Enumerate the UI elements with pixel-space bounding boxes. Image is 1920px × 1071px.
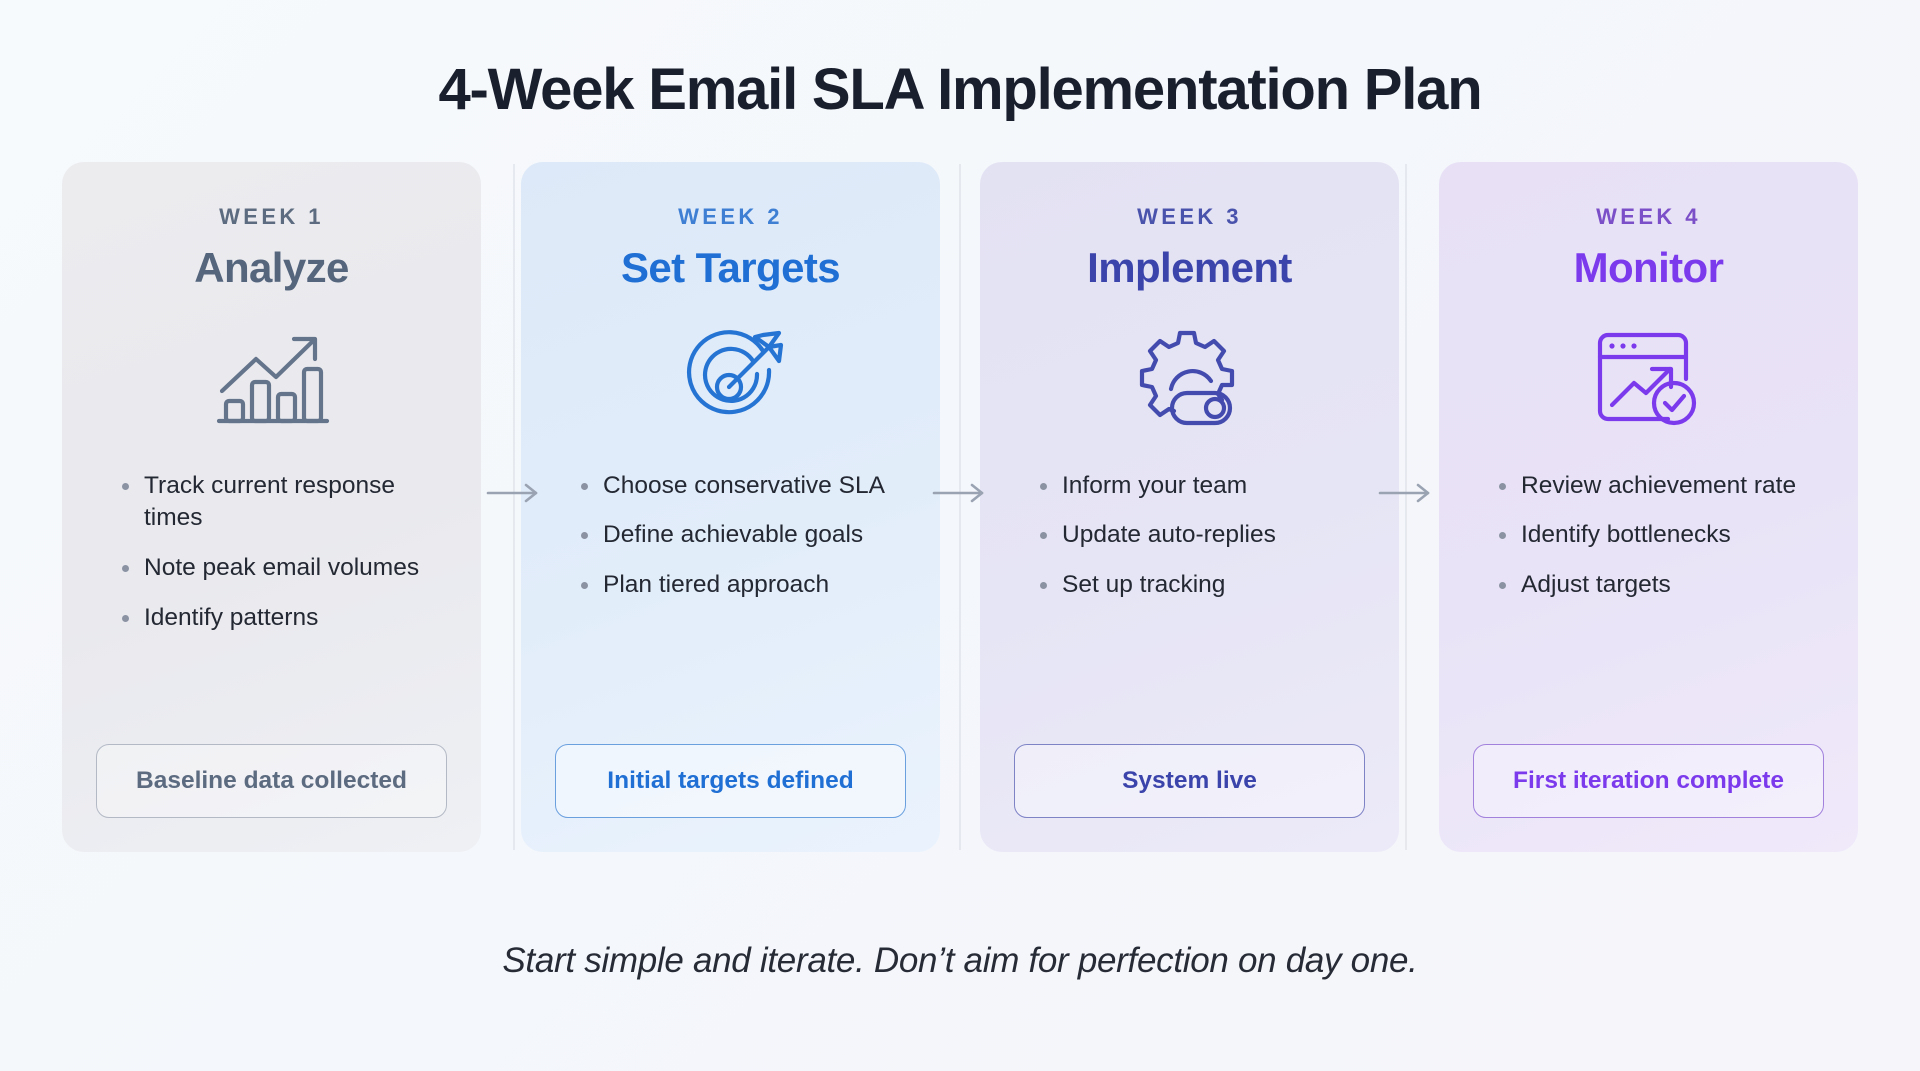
list-item: Plan tiered approach: [577, 569, 906, 602]
week-label-3: WEEK 3: [1137, 204, 1242, 230]
gear-toggle-icon: [1137, 324, 1243, 434]
list-item: Define achievable goals: [577, 519, 906, 552]
list-item: Update auto-replies: [1036, 519, 1365, 552]
title-section: 4-Week Email SLA Implementation Plan: [0, 0, 1920, 122]
bar-chart-growth-icon: [214, 324, 330, 434]
divider-line: [514, 164, 515, 850]
list-item: Set up tracking: [1036, 569, 1365, 602]
week-card-2[interactable]: WEEK 2 Set Targets Choose conservative S…: [521, 162, 940, 852]
footer-section: Start simple and iterate. Don’t aim for …: [0, 852, 1920, 1071]
list-item: Inform your team: [1036, 470, 1365, 503]
week-card-1[interactable]: WEEK 1 Analyze Track current response ti…: [62, 162, 481, 852]
bullet-list-1: Track current response times Note peak e…: [96, 470, 447, 651]
list-item: Track current response times: [118, 470, 447, 535]
divider-line: [1406, 164, 1407, 850]
list-item: Adjust targets: [1495, 569, 1824, 602]
bullet-list-4: Review achievement rate Identify bottlen…: [1473, 470, 1824, 619]
list-item: Note peak email volumes: [118, 552, 447, 585]
list-item: Identify patterns: [118, 602, 447, 635]
week-label-1: WEEK 1: [219, 204, 324, 230]
status-badge-2[interactable]: Initial targets defined: [555, 744, 906, 817]
phase-title-2: Set Targets: [621, 246, 840, 290]
phase-title-1: Analyze: [194, 246, 349, 290]
infographic-page: 4-Week Email SLA Implementation Plan WEE…: [0, 0, 1920, 1071]
bullet-list-2: Choose conservative SLA Define achievabl…: [555, 470, 906, 619]
week-label-4: WEEK 4: [1596, 204, 1701, 230]
connector-2-3: [940, 162, 980, 852]
target-dart-icon: [677, 324, 785, 434]
page-title: 4-Week Email SLA Implementation Plan: [0, 58, 1920, 122]
status-badge-4[interactable]: First iteration complete: [1473, 744, 1824, 817]
divider-line: [960, 164, 961, 850]
dashboard-check-icon: [1594, 324, 1704, 434]
bullet-list-3: Inform your team Update auto-replies Set…: [1014, 470, 1365, 619]
list-item: Choose conservative SLA: [577, 470, 906, 503]
phase-title-3: Implement: [1087, 246, 1292, 290]
week-card-3[interactable]: WEEK 3 Implement Inform your team Update…: [980, 162, 1399, 852]
list-item: Review achievement rate: [1495, 470, 1824, 503]
list-item: Identify bottlenecks: [1495, 519, 1824, 552]
week-card-4[interactable]: WEEK 4 Monitor Review achievement rate I: [1439, 162, 1858, 852]
week-cards-row: WEEK 1 Analyze Track current response ti…: [0, 162, 1920, 852]
week-label-2: WEEK 2: [678, 204, 783, 230]
footer-tagline: Start simple and iterate. Don’t aim for …: [502, 941, 1417, 981]
status-badge-3[interactable]: System live: [1014, 744, 1365, 817]
phase-title-4: Monitor: [1574, 246, 1724, 290]
status-badge-1[interactable]: Baseline data collected: [96, 744, 447, 817]
